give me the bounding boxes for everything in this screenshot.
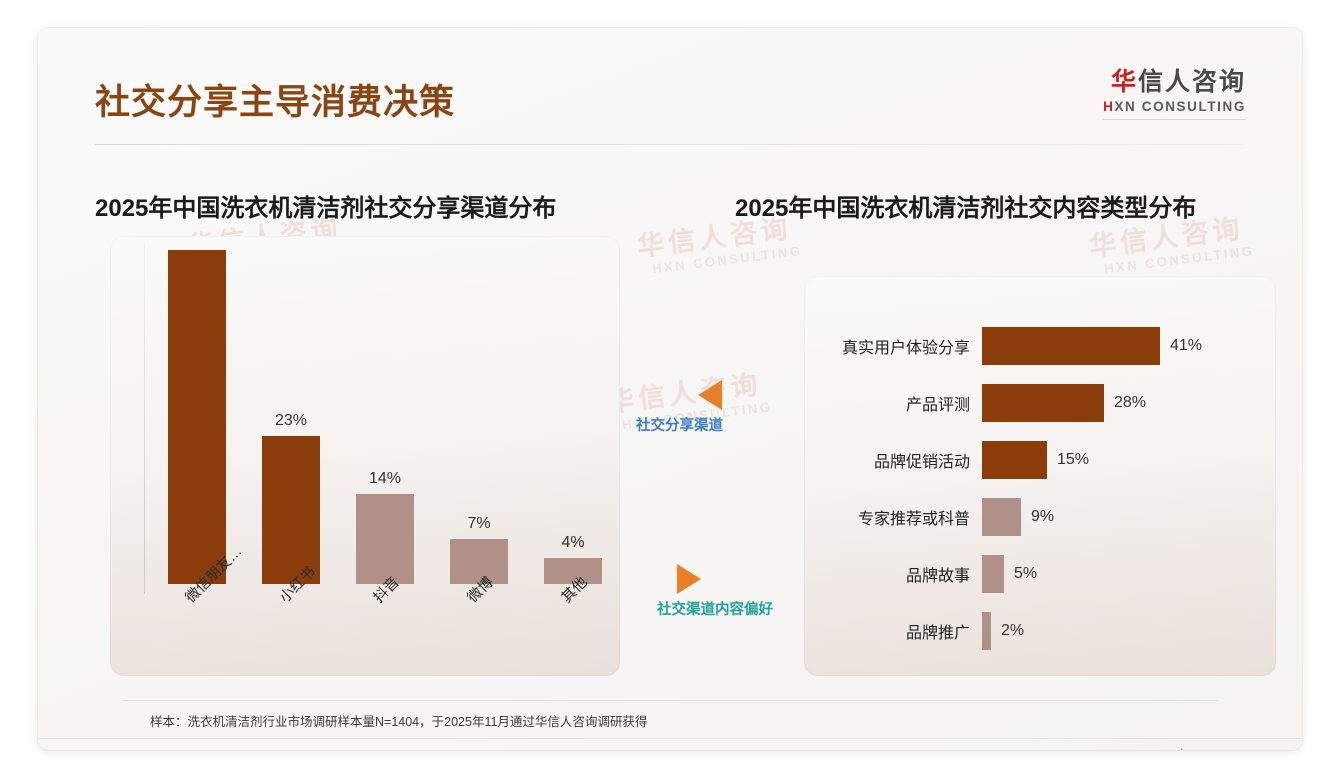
footnote-divider: [122, 700, 1218, 701]
watermark-line2: HXN CONSULTING: [1103, 243, 1255, 276]
bar-value-label: 7%: [467, 515, 490, 533]
footnote: 样本：洗衣机清洁剂行业市场调研样本量N=1404，于2025年11月通过华信人咨…: [150, 711, 647, 730]
bar-row: 产品评测28%: [804, 383, 1276, 423]
bar-category-label: 专家推荐或科普: [858, 505, 970, 529]
horizontal-bar-chart: 真实用户体验分享41%产品评测28%品牌促销活动15%专家推荐或科普9%品牌故事…: [804, 276, 1276, 676]
page-title: 社交分享主导消费决策: [95, 74, 455, 125]
watermark: 华信人咨询 HXN CONSULTING: [1088, 214, 1255, 278]
slide: 华信人咨询 HXN CONSULTING 华信人咨询 HXN CONSULTIN…: [38, 28, 1302, 750]
bar-rect: [982, 441, 1047, 479]
bar-row: 品牌故事5%: [804, 554, 1276, 594]
bar-category-label: 产品评测: [906, 391, 970, 415]
footer-divider: [38, 738, 1302, 739]
bar-rect: [982, 555, 1004, 593]
bar-value-label: 28%: [1114, 394, 1146, 412]
annotation-content-preference: 社交渠道内容偏好: [657, 564, 773, 619]
bar-category-label: 真实用户体验分享: [842, 334, 970, 358]
logo-english-accent: H: [1103, 99, 1114, 114]
triangle-right-icon: [677, 564, 701, 594]
bar-item: 4%其他: [544, 558, 602, 584]
watermark-line2: HXN CONSULTING: [651, 243, 803, 276]
logo-underline: [1103, 119, 1246, 120]
vertical-bar-chart: 微信朋友…23%小红书14%抖音7%微博4%其他: [110, 236, 620, 676]
bar-row: 品牌推广2%: [804, 611, 1276, 651]
logo-chinese-rest: 信人咨询: [1138, 68, 1246, 96]
bar-category-label: 品牌故事: [906, 562, 970, 586]
annotation-social-channel: 社交分享渠道: [636, 380, 723, 435]
brand-logo: 华信人咨询 HXN CONSULTING: [1103, 68, 1246, 120]
bar-rect: [982, 327, 1160, 365]
bar-item: 7%微博: [450, 539, 508, 584]
header-divider: [95, 144, 1245, 145]
chart-axis-line: [144, 244, 145, 594]
bar-rect: [356, 494, 414, 584]
bar-category-label: 品牌推广: [906, 619, 970, 643]
bar-value-label: 5%: [1014, 565, 1037, 583]
bar-row: 真实用户体验分享41%: [804, 326, 1276, 366]
bar-rect: [168, 250, 226, 584]
footer-website: www.hxrcon.com: [1151, 747, 1245, 750]
bar-value-label: 9%: [1031, 508, 1054, 526]
bar-item: 微信朋友…: [168, 250, 226, 584]
bar-rect: [982, 612, 991, 650]
chart-title-right: 2025年中国洗衣机清洁剂社交内容类型分布: [735, 188, 1196, 223]
triangle-left-icon: [698, 380, 722, 410]
bar-row: 品牌促销活动15%: [804, 440, 1276, 480]
bar-rect: [982, 498, 1021, 536]
bar-rect: [262, 436, 320, 584]
bar-value-label: 41%: [1170, 337, 1202, 355]
logo-english-rest: XN CONSULTING: [1114, 99, 1246, 114]
bar-item: 23%小红书: [262, 436, 320, 584]
bar-row: 专家推荐或科普9%: [804, 497, 1276, 537]
bar-rect: [982, 384, 1104, 422]
chart-title-left: 2025年中国洗衣机清洁剂社交分享渠道分布: [95, 188, 556, 223]
bar-value-label: 14%: [369, 470, 401, 488]
bar-value-label: 2%: [1001, 622, 1024, 640]
logo-english: HXN CONSULTING: [1103, 99, 1246, 114]
bar-value-label: 15%: [1057, 451, 1089, 469]
bar-item: 14%抖音: [356, 494, 414, 584]
annotation-label: 社交渠道内容偏好: [657, 598, 773, 619]
bar-value-label: 4%: [561, 534, 584, 552]
logo-chinese: 华信人咨询: [1103, 68, 1246, 97]
logo-chinese-accent: 华: [1111, 68, 1138, 96]
bar-category-label: 品牌促销活动: [874, 448, 970, 472]
bar-value-label: 23%: [275, 412, 307, 430]
watermark: 华信人咨询 HXN CONSULTING: [636, 214, 803, 278]
annotation-label: 社交分享渠道: [636, 414, 723, 435]
footer-copyright: ©2026.1 HXR华信人咨询: [95, 747, 235, 750]
